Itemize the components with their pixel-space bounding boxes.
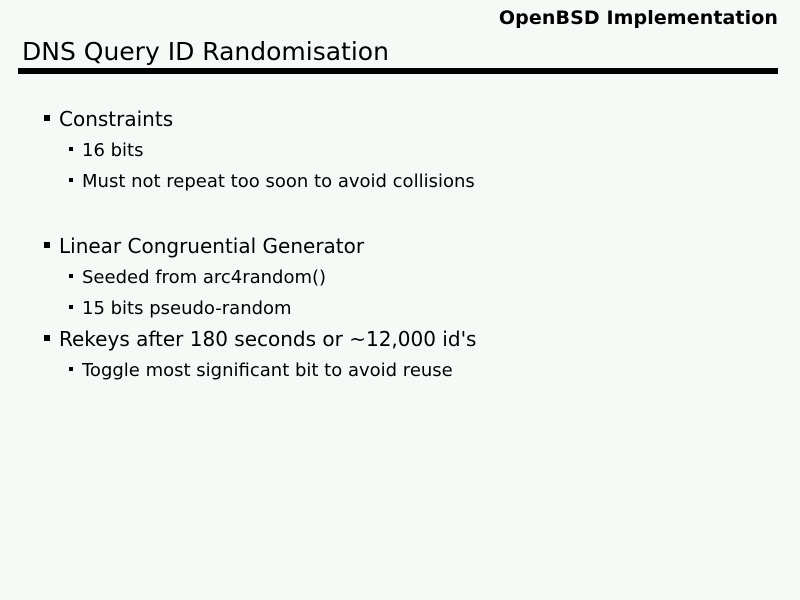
square-bullet-icon bbox=[44, 115, 50, 121]
bullet-item: 16 bits bbox=[0, 135, 800, 166]
bullet-item: 15 bits pseudo-random bbox=[0, 293, 800, 324]
bullet-list: Constraints16 bitsMust not repeat too so… bbox=[0, 104, 800, 386]
bullet-item: Seeded from arc4random() bbox=[0, 262, 800, 293]
bullet-item: Toggle most significant bit to avoid reu… bbox=[0, 355, 800, 386]
slide-header-label: OpenBSD Implementation bbox=[0, 6, 778, 30]
square-bullet-icon bbox=[44, 242, 50, 248]
bullet-spacer bbox=[0, 197, 800, 231]
slide: OpenBSD Implementation DNS Query ID Rand… bbox=[0, 0, 800, 600]
bullet-item: Rekeys after 180 seconds or ~12,000 id's bbox=[0, 324, 800, 355]
bullet-item: Linear Congruential Generator bbox=[0, 231, 800, 262]
square-bullet-icon bbox=[69, 147, 73, 151]
bullet-text: 15 bits pseudo-random bbox=[82, 293, 292, 324]
square-bullet-icon bbox=[69, 305, 73, 309]
bullet-text: Rekeys after 180 seconds or ~12,000 id's bbox=[59, 324, 476, 355]
bullet-text: Seeded from arc4random() bbox=[82, 262, 326, 293]
bullet-item: Constraints bbox=[0, 104, 800, 135]
bullet-text: 16 bits bbox=[82, 135, 144, 166]
bullet-text: Must not repeat too soon to avoid collis… bbox=[82, 166, 475, 197]
square-bullet-icon bbox=[69, 178, 73, 182]
title-divider bbox=[18, 68, 778, 74]
square-bullet-icon bbox=[69, 367, 73, 371]
square-bullet-icon bbox=[44, 335, 50, 341]
bullet-text: Linear Congruential Generator bbox=[59, 231, 364, 262]
bullet-text: Toggle most significant bit to avoid reu… bbox=[82, 355, 453, 386]
square-bullet-icon bbox=[69, 274, 73, 278]
bullet-item: Must not repeat too soon to avoid collis… bbox=[0, 166, 800, 197]
page-title: DNS Query ID Randomisation bbox=[22, 36, 389, 67]
bullet-text: Constraints bbox=[59, 104, 173, 135]
